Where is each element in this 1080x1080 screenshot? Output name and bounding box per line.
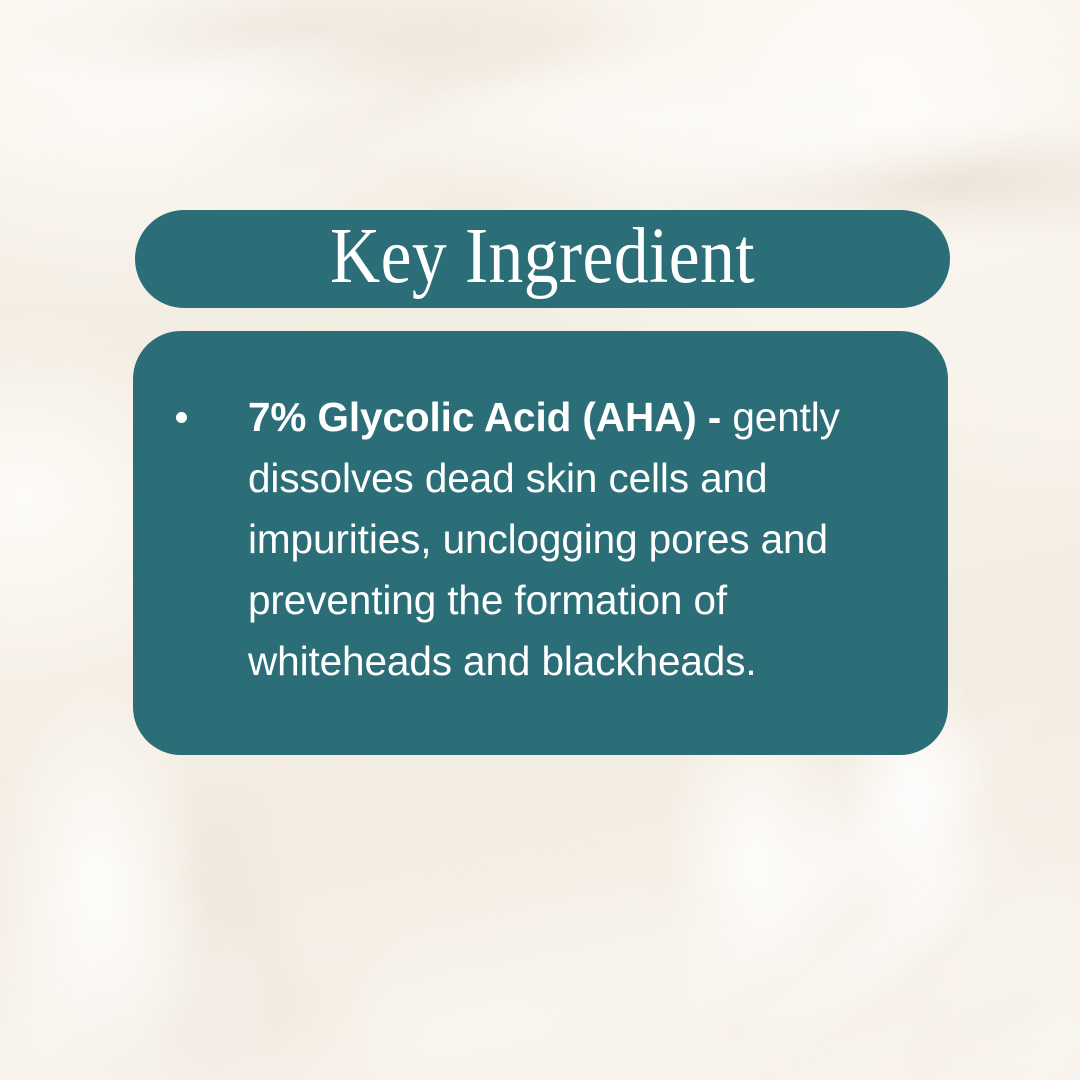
title-banner: Key Ingredient — [135, 210, 950, 308]
key-ingredient-card: Key Ingredient 7% Glycolic Acid (AHA) - … — [0, 0, 1080, 1080]
list-item: 7% Glycolic Acid (AHA) - gently dissolve… — [176, 387, 876, 692]
page-title: Key Ingredient — [330, 217, 755, 302]
ingredient-bullet-list: 7% Glycolic Acid (AHA) - gently dissolve… — [176, 387, 876, 692]
bullet-dot-icon — [176, 412, 187, 423]
ingredient-details-panel: 7% Glycolic Acid (AHA) - gently dissolve… — [133, 331, 948, 755]
ingredient-name: 7% Glycolic Acid (AHA) - — [248, 394, 721, 440]
